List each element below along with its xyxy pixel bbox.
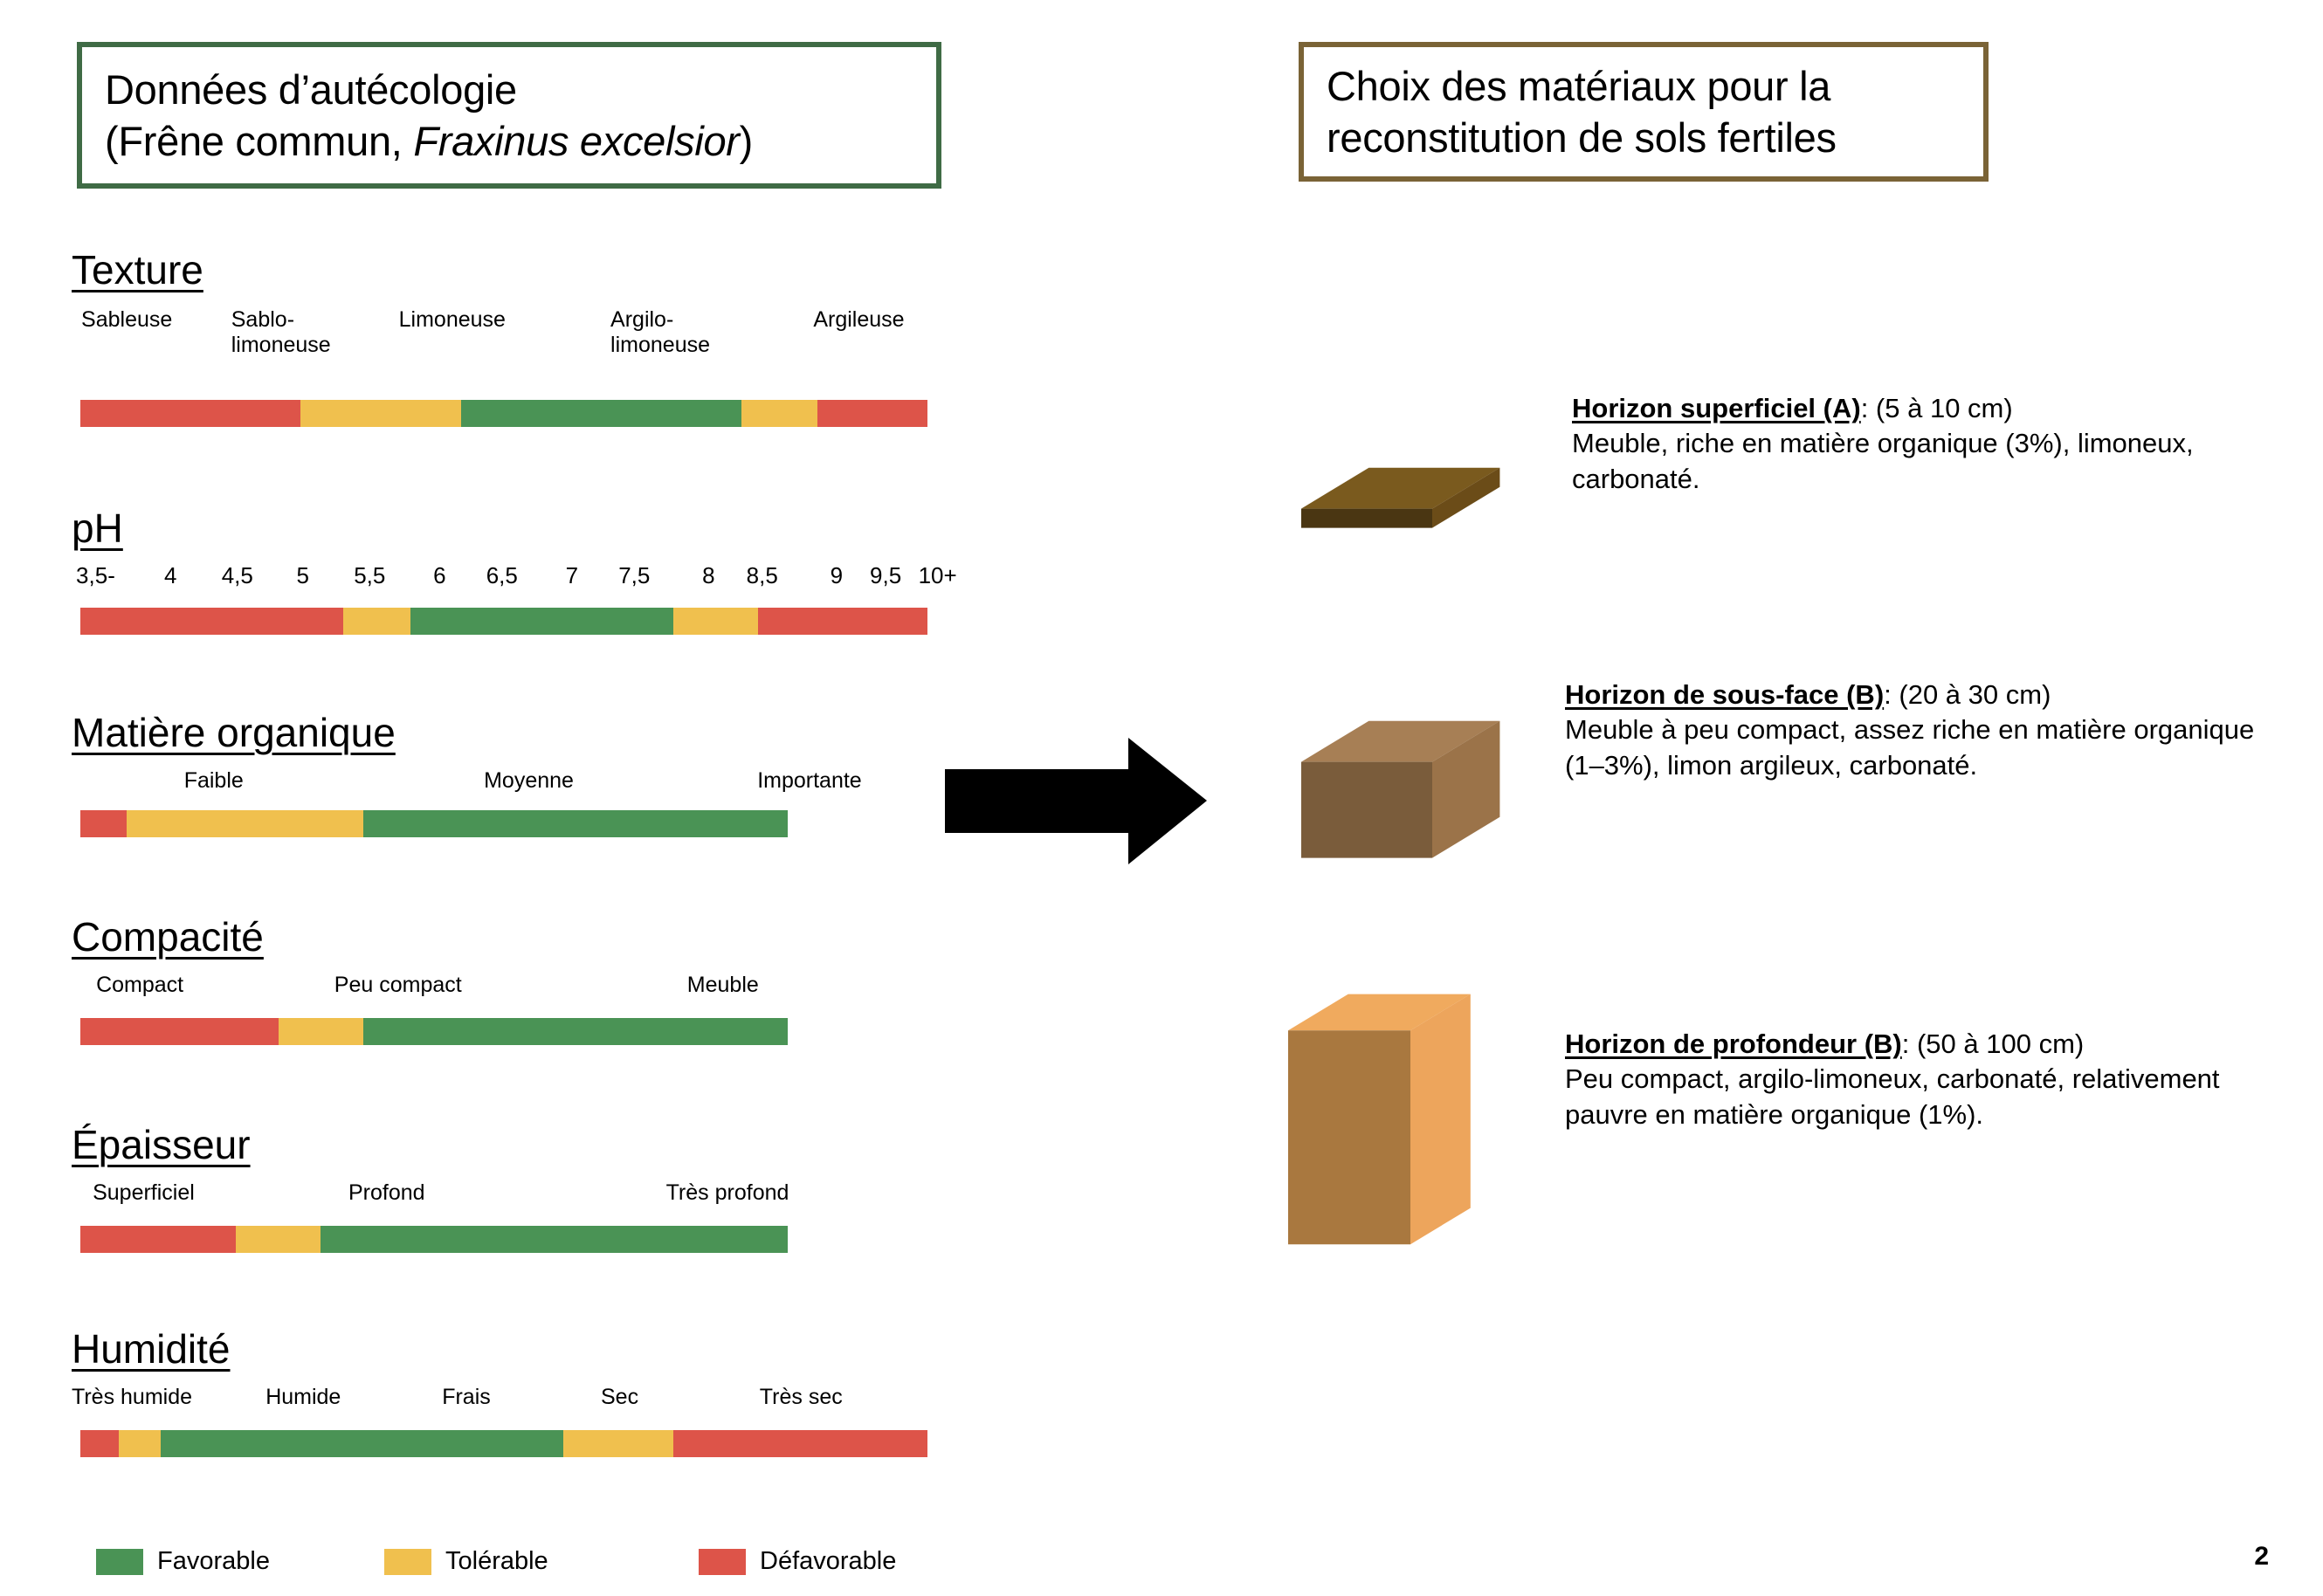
axis-label: 3,5-	[76, 562, 115, 588]
suitability-bar-humidite	[80, 1430, 927, 1457]
horizon-body-text: Meuble, riche en matière organique (3%),…	[1572, 428, 2194, 493]
axis-label: Sec	[601, 1385, 638, 1410]
legend-item-tolerable: Tolérable	[384, 1547, 548, 1576]
bar-segment-tolerable	[236, 1226, 321, 1253]
horizon-description-1: Horizon superficiel (A): (5 à 10 cm)Meub…	[1572, 391, 2262, 497]
bar-segment-tolerable	[300, 400, 461, 427]
bar-segment-tolerable	[279, 1018, 363, 1045]
axis-label: Moyenne	[484, 768, 574, 794]
bar-segment-tolerable	[563, 1430, 673, 1457]
section-heading-matiere-organique: Matière organique	[72, 709, 396, 756]
axis-label: 10+	[919, 562, 957, 588]
axis-label: 7	[566, 562, 578, 588]
section-heading-humidite: Humidité	[72, 1325, 231, 1372]
legend-swatch-tolerable	[384, 1549, 431, 1575]
bar-segment-favorable	[363, 810, 788, 837]
bar-segment-favorable	[363, 1018, 788, 1045]
soil-block-1	[1284, 375, 1537, 550]
left-title-line2-prefix: (Frêne commun,	[105, 118, 413, 164]
bar-segment-defavorable	[817, 400, 927, 427]
axis-label: 6,5	[486, 562, 518, 588]
axis-label: 8	[702, 562, 714, 588]
bar-segment-defavorable	[80, 608, 343, 635]
bar-segment-defavorable	[80, 1226, 236, 1253]
legend: FavorableTolérableDéfavorable	[96, 1547, 926, 1582]
horizon-heading: Horizon superficiel (A)	[1572, 393, 1861, 423]
suitability-bar-compacite	[80, 1018, 788, 1045]
bar-segment-tolerable	[127, 810, 363, 837]
horizon-heading: Horizon de sous-face (B)	[1565, 679, 1884, 710]
axis-label: Sableuse	[81, 307, 172, 333]
legend-swatch-favorable	[96, 1549, 143, 1575]
section-heading-texture: Texture	[72, 246, 203, 293]
axis-label: Sablo- limoneuse	[231, 307, 331, 358]
axis-label: Compact	[96, 973, 183, 998]
axis-label: Profond	[348, 1180, 425, 1206]
horizon-heading: Horizon de profondeur (B)	[1565, 1028, 1902, 1059]
axis-label: Très sec	[760, 1385, 843, 1410]
bar-segment-defavorable	[673, 1430, 927, 1457]
axis-labels-texture: SableuseSablo- limoneuseLimoneuseArgilo-…	[77, 307, 959, 368]
horizon-body-text: Meuble à peu compact, assez riche en mat…	[1565, 714, 2254, 780]
axis-label: 8,5	[747, 562, 778, 588]
axis-label: Superficiel	[93, 1180, 195, 1206]
axis-label: Meuble	[687, 973, 759, 998]
legend-label: Tolérable	[445, 1547, 548, 1576]
bar-segment-tolerable	[741, 400, 817, 427]
horizon-depth: : (5 à 10 cm)	[1861, 393, 2013, 423]
bar-segment-favorable	[461, 400, 741, 427]
axis-label: Peu compact	[334, 973, 462, 998]
axis-label: Importante	[757, 768, 862, 794]
page-number: 2	[2254, 1542, 2269, 1572]
left-title-line1: Données d’autécologie	[105, 64, 913, 115]
suitability-bar-ph	[80, 608, 927, 635]
axis-label: Faible	[184, 768, 244, 794]
legend-item-defavorable: Défavorable	[699, 1547, 896, 1576]
horizon-description-2: Horizon de sous-face (B): (20 à 30 cm)Me…	[1565, 678, 2255, 783]
suitability-bar-epaisseur	[80, 1226, 788, 1253]
left-title-line2-suffix: )	[740, 118, 753, 164]
bar-segment-favorable	[161, 1430, 563, 1457]
axis-label: 7,5	[618, 562, 650, 588]
axis-label: 4	[164, 562, 176, 588]
suitability-bar-texture	[80, 400, 927, 427]
legend-label: Défavorable	[760, 1547, 896, 1576]
legend-label: Favorable	[157, 1547, 270, 1576]
bar-segment-defavorable	[80, 810, 127, 837]
section-heading-ph: pH	[72, 505, 123, 552]
bar-segment-favorable	[321, 1226, 788, 1253]
bar-segment-tolerable	[119, 1430, 162, 1457]
axis-label: 5,5	[354, 562, 385, 588]
axis-label: Frais	[442, 1385, 491, 1410]
axis-label: 4,5	[222, 562, 253, 588]
axis-label: Très humide	[72, 1385, 192, 1410]
bar-segment-favorable	[410, 608, 673, 635]
section-heading-epaisseur: Épaisseur	[72, 1121, 251, 1168]
legend-item-favorable: Favorable	[96, 1547, 270, 1576]
soil-block-3	[1271, 899, 1533, 1266]
legend-swatch-defavorable	[699, 1549, 746, 1575]
suitability-bar-matiere-organique	[80, 810, 788, 837]
bar-segment-defavorable	[80, 1018, 279, 1045]
left-title-box: Données d’autécologie (Frêne commun, Fra…	[77, 42, 941, 189]
horizon-depth: : (50 à 100 cm)	[1902, 1028, 2084, 1059]
bar-segment-tolerable	[673, 608, 758, 635]
left-title-line2: (Frêne commun, Fraxinus excelsior)	[105, 115, 913, 167]
section-heading-compacite: Compacité	[72, 913, 264, 960]
horizon-depth: : (20 à 30 cm)	[1884, 679, 2051, 710]
soil-block-2	[1284, 627, 1537, 880]
left-title-species: Fraxinus excelsior	[413, 118, 739, 164]
horizon-description-3: Horizon de profondeur (B): (50 à 100 cm)…	[1565, 1027, 2255, 1132]
right-arrow-icon	[945, 738, 1207, 864]
axis-label: Limoneuse	[399, 307, 506, 333]
bar-segment-tolerable	[343, 608, 411, 635]
bar-segment-defavorable	[758, 608, 927, 635]
axis-label: Très profond	[666, 1180, 789, 1206]
slide-canvas: Données d’autécologie (Frêne commun, Fra…	[0, 0, 2323, 1596]
bar-segment-defavorable	[80, 400, 300, 427]
bar-segment-defavorable	[80, 1430, 119, 1457]
axis-label: 6	[433, 562, 445, 588]
right-title-line1: Choix des matériaux pour la	[1327, 60, 1961, 112]
axis-label: 9	[831, 562, 843, 588]
axis-label: 5	[297, 562, 309, 588]
axis-label: Humide	[265, 1385, 341, 1410]
right-title-line2: reconstitution de sols fertiles	[1327, 112, 1961, 163]
axis-label: Argileuse	[813, 307, 904, 333]
axis-label: 9,5	[870, 562, 901, 588]
horizon-body-text: Peu compact, argilo-limoneux, carbonaté,…	[1565, 1063, 2220, 1129]
axis-label: Argilo- limoneuse	[610, 307, 710, 358]
right-title-box: Choix des matériaux pour la reconstituti…	[1299, 42, 1989, 182]
